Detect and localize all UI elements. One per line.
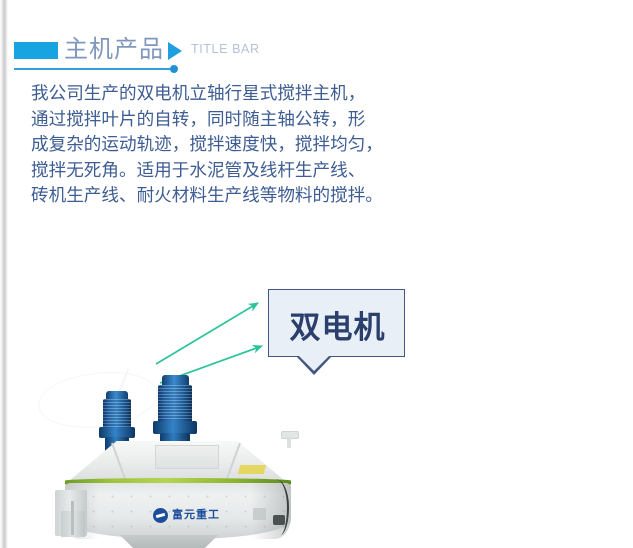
inspection-hatch bbox=[155, 445, 219, 469]
page-canvas: 主机产品 TITLE BAR 我公司生产的双电机立轴行星式搅拌主机， 通过搅拌叶… bbox=[0, 0, 633, 548]
page-title: 主机产品 bbox=[64, 34, 164, 64]
company-logo-icon: 富元重工 bbox=[153, 507, 245, 523]
product-illustration: 双电机 bbox=[0, 255, 633, 548]
machine-photo: 富元重工 bbox=[55, 375, 315, 548]
spec-plate bbox=[253, 508, 266, 520]
vent-stem bbox=[287, 436, 291, 448]
logo-text: 富元重工 bbox=[172, 509, 220, 521]
mixer-lid bbox=[69, 441, 285, 481]
title-underline-divider bbox=[14, 68, 173, 70]
mixer-drum: 富元重工 bbox=[65, 483, 291, 539]
speech-bubble-tail-fill bbox=[298, 355, 330, 371]
callout-box: 双电机 bbox=[268, 289, 405, 357]
mixer-base-skirt bbox=[113, 535, 225, 548]
page-edge-gutter bbox=[0, 0, 8, 548]
bullet-dot-icon bbox=[170, 65, 178, 73]
title-bar-subtitle: TITLE BAR bbox=[191, 42, 260, 56]
title-bar: 主机产品 TITLE BAR bbox=[14, 36, 434, 74]
valve-block bbox=[273, 515, 285, 525]
logo-mark-icon bbox=[153, 508, 168, 523]
actuator-rod bbox=[71, 501, 74, 535]
motor-cooling-fins bbox=[103, 399, 131, 429]
callout-label: 双电机 bbox=[269, 290, 406, 358]
warning-sticker-icon bbox=[238, 465, 266, 474]
motor-cooling-fins bbox=[158, 385, 192, 423]
triangle-right-icon bbox=[168, 42, 182, 60]
accent-swatch bbox=[14, 42, 58, 59]
product-description-text: 我公司生产的双电机立轴行星式搅拌主机， 通过搅拌叶片的自转，同时随主轴公转，形 … bbox=[31, 82, 451, 210]
